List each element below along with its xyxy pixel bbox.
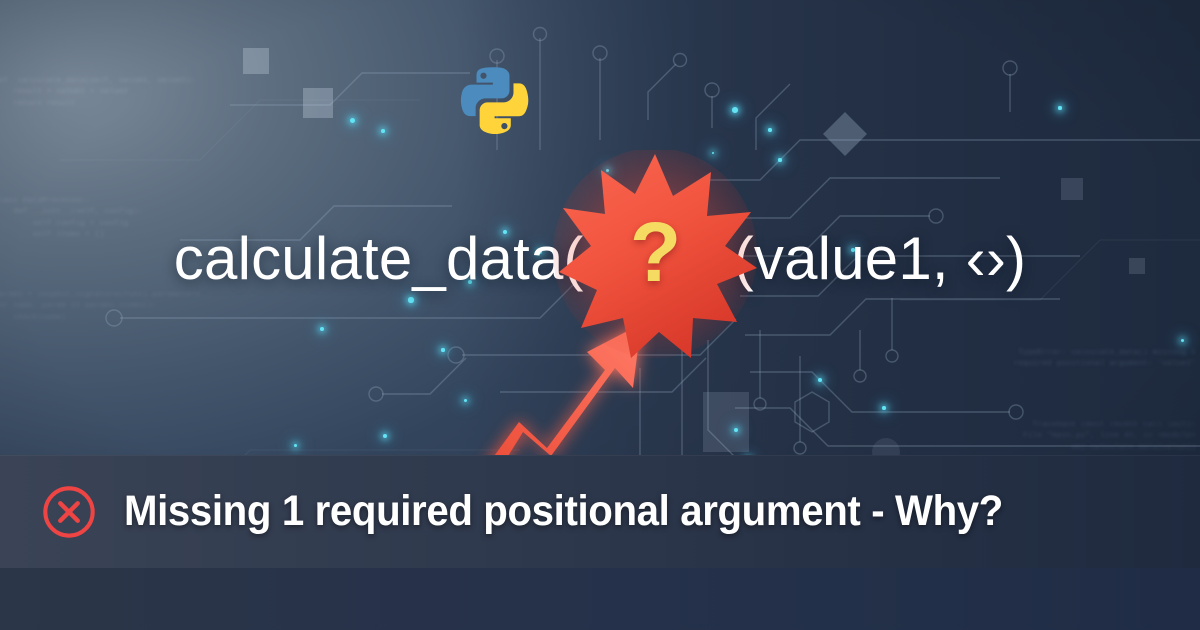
banner-underlay [0, 568, 1200, 630]
error-banner-text: Missing 1 required positional argument -… [124, 487, 1003, 536]
og-image-canvas: def calculate_data(self, value1, value2)… [0, 0, 1200, 630]
error-circle-x-icon [40, 483, 98, 541]
error-banner: Missing 1 required positional argument -… [0, 455, 1200, 568]
